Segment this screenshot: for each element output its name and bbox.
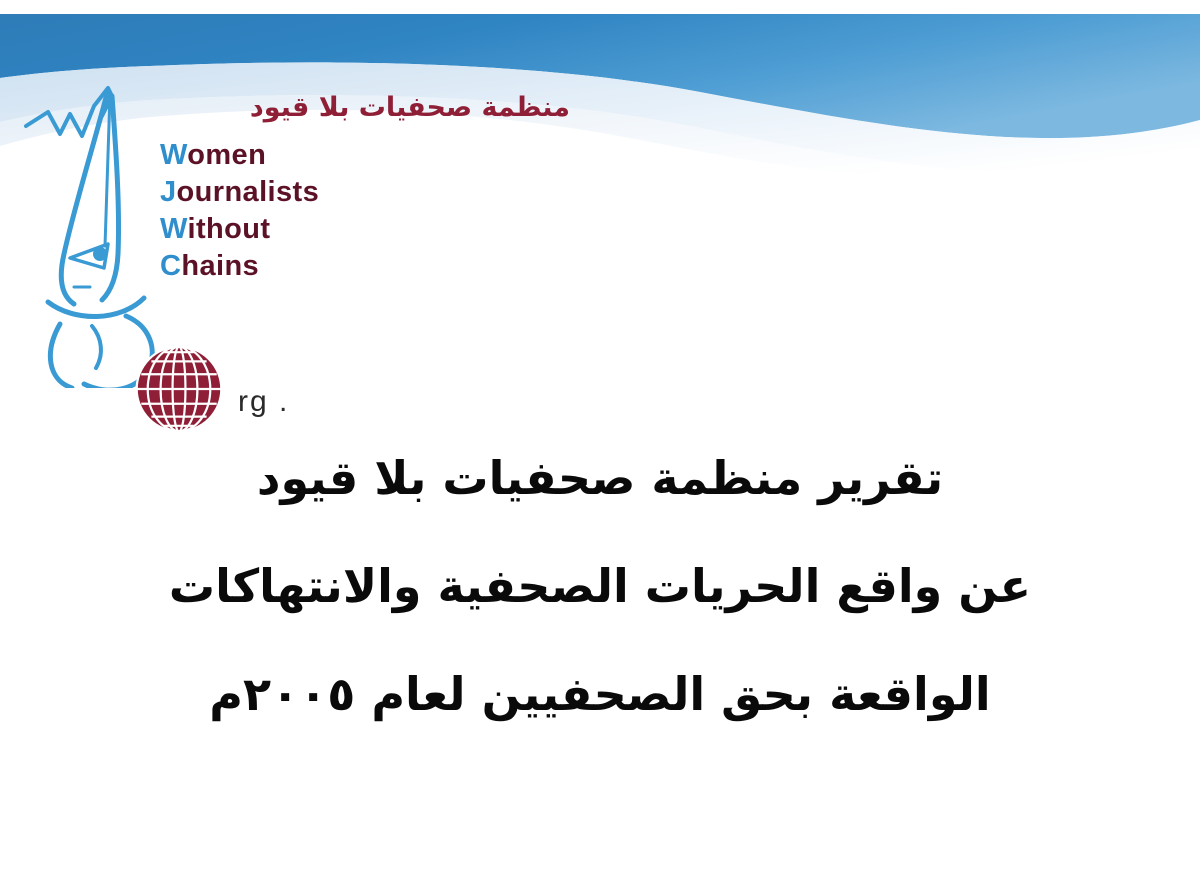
organization-logo: منظمة صحفيات بلا قيود Women Journalists …	[8, 58, 568, 398]
logo-word-without: Without	[160, 211, 570, 248]
logo-initial-j: J	[160, 176, 177, 208]
logo-word-rest-women: omen	[187, 139, 266, 171]
report-title: تقرير منظمة صحفيات بلا قيود عن واقع الحر…	[0, 455, 1200, 717]
report-title-line-1: تقرير منظمة صحفيات بلا قيود	[0, 455, 1200, 501]
logo-word-women: Women	[160, 137, 570, 174]
globe-icon	[133, 343, 225, 435]
report-title-line-3: الواقعة بحق الصحفيين لعام ٢٠٠٥م	[0, 671, 1200, 717]
logo-word-rest-without: ithout	[188, 213, 271, 245]
report-cover-slide: منظمة صحفيات بلا قيود Women Journalists …	[0, 0, 1200, 892]
organization-name-english: Women Journalists Without Chains	[160, 137, 570, 285]
domain-suffix-text: rg .	[238, 385, 289, 419]
report-title-line-2: عن واقع الحريات الصحفية والانتهاكات	[0, 563, 1200, 609]
logo-word-journalists: Journalists	[160, 174, 570, 211]
logo-initial-w1: W	[160, 139, 187, 171]
organization-name-arabic: منظمة صحفيات بلا قيود	[160, 92, 570, 123]
logo-text-lockup: منظمة صحفيات بلا قيود Women Journalists …	[160, 92, 570, 285]
logo-word-chains: Chains	[160, 248, 570, 285]
logo-initial-c: C	[160, 250, 181, 282]
logo-initial-w2: W	[160, 213, 188, 245]
logo-word-rest-chains: hains	[181, 250, 259, 282]
domain-lockup: rg .	[133, 343, 363, 443]
logo-word-rest-journalists: ournalists	[177, 176, 320, 208]
